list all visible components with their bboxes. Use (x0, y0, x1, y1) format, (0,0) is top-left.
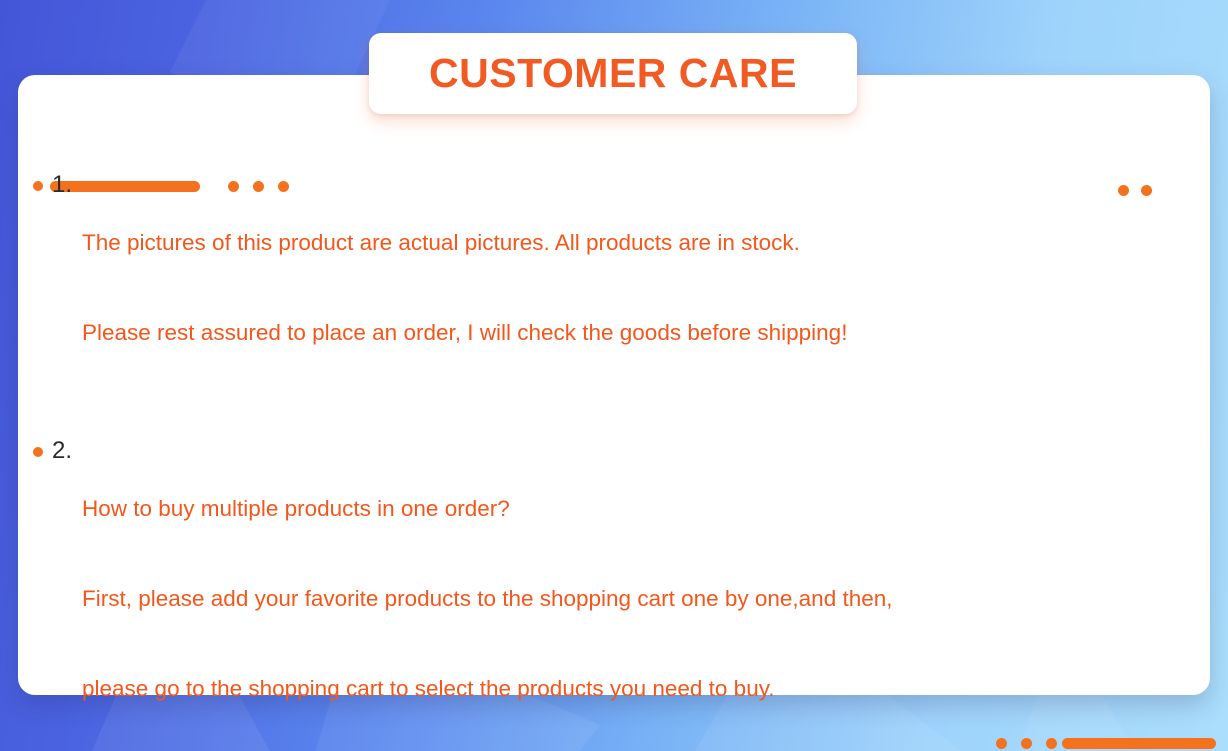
title-banner: CUSTOMER CARE (369, 33, 857, 114)
bullet-dot-icon (33, 181, 43, 191)
page-title: CUSTOMER CARE (429, 50, 797, 97)
list-item-line: Please rest assured to place an order, I… (82, 318, 1210, 348)
list-item-marker: 2. (18, 434, 82, 466)
list-item: 2. How to buy multiple products in one o… (18, 434, 1210, 751)
list-item: 1. The pictures of this product are actu… (18, 168, 1210, 408)
list-item-line: How to buy multiple products in one orde… (82, 494, 1210, 524)
list-item-line: please go to the shopping cart to select… (82, 674, 1210, 704)
list-item-line: The pictures of this product are actual … (82, 228, 1210, 258)
accent-bar-bottom-right (1062, 738, 1216, 749)
list-item-number: 2. (52, 436, 82, 466)
dot-icon (996, 738, 1007, 749)
dot-icon (1046, 738, 1057, 749)
list-item-body: The pictures of this product are actual … (82, 168, 1210, 408)
list-item-number: 1. (52, 170, 82, 200)
customer-care-card: 1. The pictures of this product are actu… (18, 75, 1210, 695)
list-item-line: First, please add your favorite products… (82, 584, 1210, 614)
dot-icon (1021, 738, 1032, 749)
list-item-body: How to buy multiple products in one orde… (82, 434, 1210, 751)
dot-group-bottom-right (996, 738, 1057, 749)
policy-list: 1. The pictures of this product are actu… (18, 168, 1210, 751)
list-item-marker: 1. (18, 168, 82, 200)
bullet-dot-icon (33, 447, 43, 457)
